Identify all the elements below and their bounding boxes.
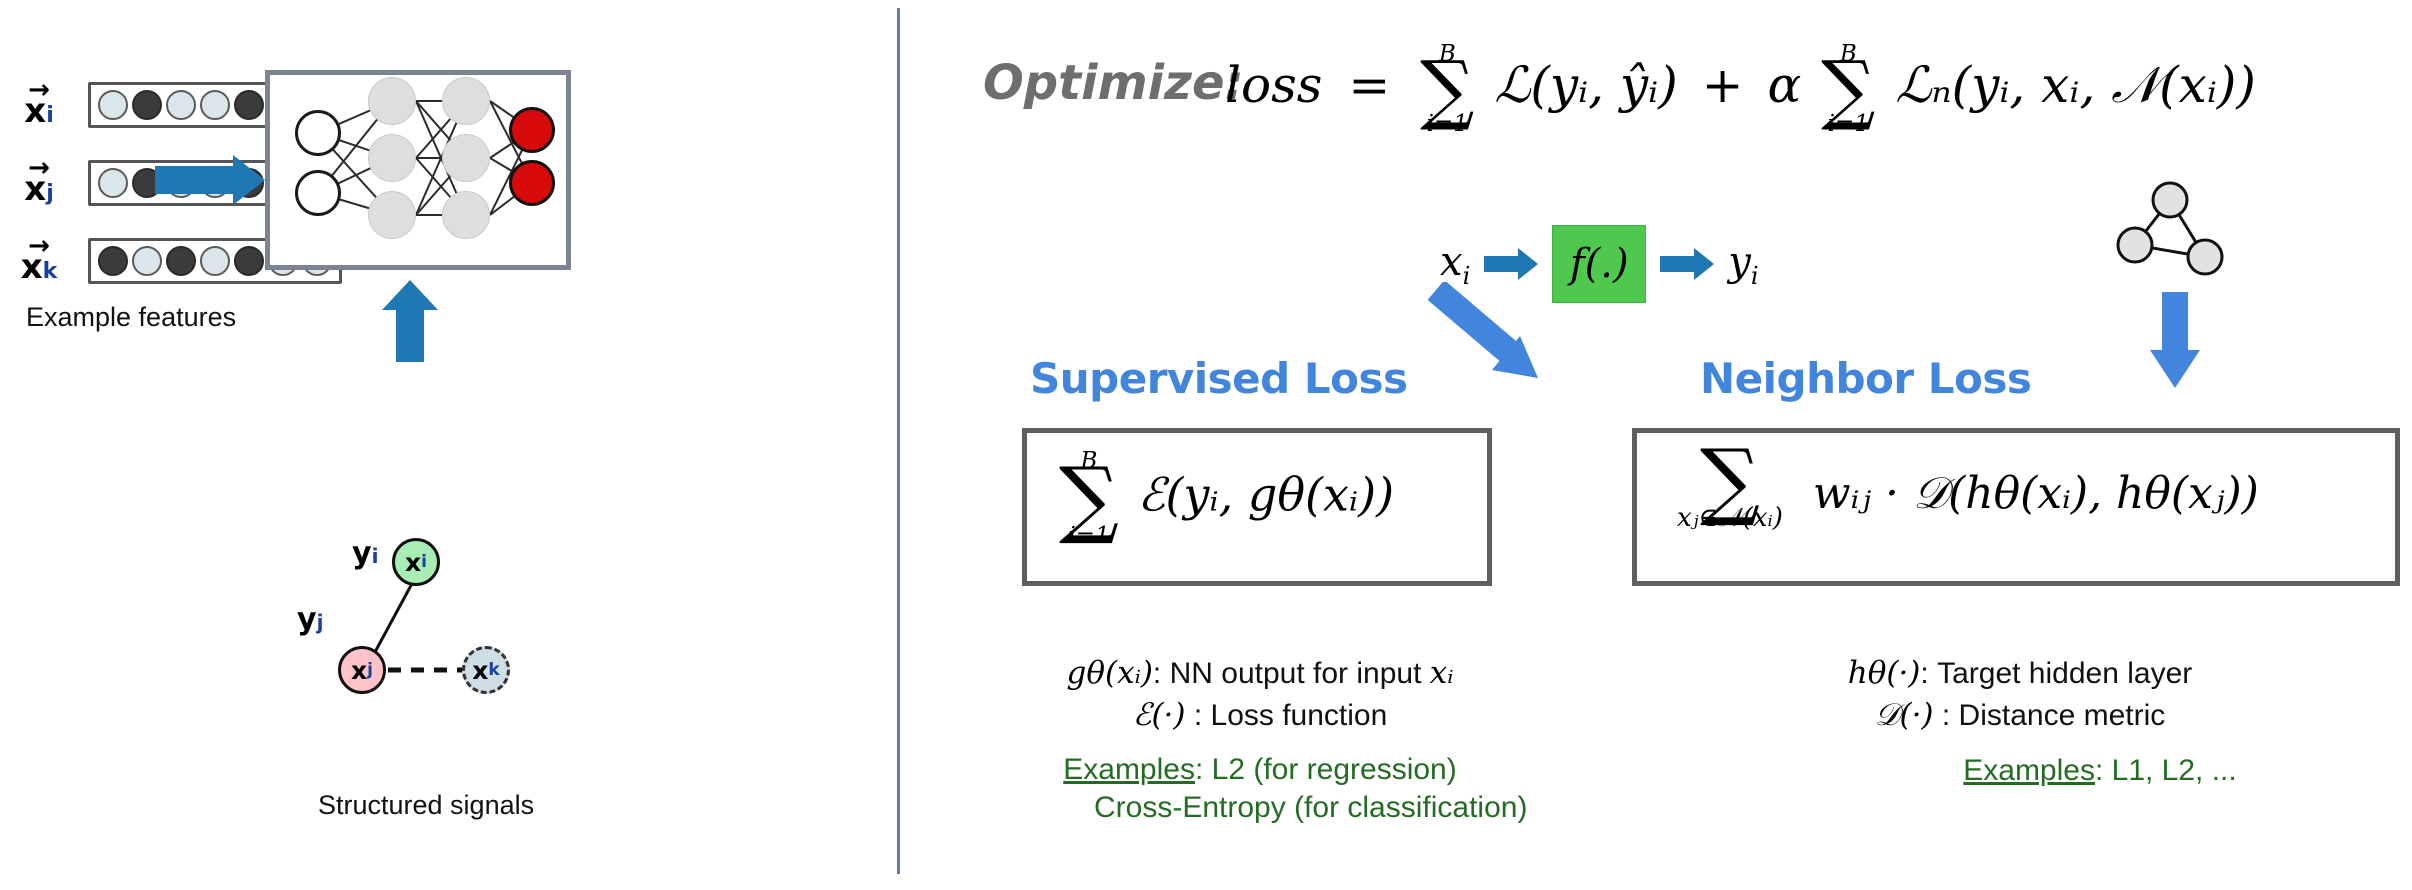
graph-node-xi: xi <box>392 538 440 586</box>
feature-cell <box>200 246 230 276</box>
equation-alpha: α <box>1767 56 1801 114</box>
feature-cell <box>98 246 128 276</box>
graph-node-xj: xj <box>338 646 386 694</box>
arrow-input-to-function <box>1484 248 1538 280</box>
graph-label-base: y <box>297 602 317 637</box>
legend-trail: xᵢ <box>1430 655 1454 691</box>
network-hidden-node <box>368 191 416 239</box>
graph-node-label: x <box>351 656 367 685</box>
arrow-diagonal-svg <box>1428 282 1558 392</box>
legend-symbol: gθ(xᵢ) <box>1067 655 1153 691</box>
legend-row: gθ(xᵢ): NN output for input xᵢ <box>1020 655 1500 691</box>
sum-lower-limit: xⱼ∈𝒩(xᵢ) <box>1677 505 1783 532</box>
graph-label-sub: j <box>317 610 324 634</box>
vector-label-sub: i <box>46 103 54 128</box>
sum-lower-limit: i=1 <box>1828 112 1869 136</box>
feature-cell <box>132 90 162 120</box>
legend-row: ℰ(·) : Loss function <box>1020 697 1500 733</box>
sum-lower-limit: i=1 <box>1427 112 1468 136</box>
sum-symbol: ∑ <box>1420 66 1474 112</box>
feature-cell <box>132 246 162 276</box>
supervised-formula-body: ℰ(yᵢ, gθ(xᵢ)) <box>1138 467 1394 521</box>
graph-label-yj: yj <box>297 602 323 637</box>
structured-signals-caption: Structured signals <box>318 790 534 821</box>
graph-node-label: x <box>472 656 488 685</box>
examples-label: Examples <box>1963 754 2095 787</box>
summation: B ∑ i=1 <box>1059 449 1119 548</box>
panel-divider <box>897 8 900 874</box>
supervised-legend: gθ(xᵢ): NN output for input xᵢ ℰ(·) : Lo… <box>1020 655 1500 825</box>
arrow-down-svg <box>2140 292 2220 392</box>
graph-node-sub: k <box>488 660 499 680</box>
equation-term-neighbor: ℒₙ(yᵢ, xᵢ, 𝒩(xᵢ)) <box>1895 56 2256 114</box>
equation-term-supervised: ℒ(yᵢ, ŷᵢ) <box>1494 56 1677 114</box>
graph-node-xk: xk <box>462 646 510 694</box>
function-box-label: f(.) <box>1570 241 1629 287</box>
legend-sep: : <box>1920 657 1928 690</box>
examples-row: Examples: L2 (for regression) <box>1020 753 1500 787</box>
arrow-function-to-output <box>1660 248 1714 280</box>
neighbor-loss-title: Neighbor Loss <box>1700 354 2031 403</box>
feature-cell <box>200 90 230 120</box>
sum-symbol: ∑ <box>1700 455 1760 505</box>
network-input-node <box>295 110 341 156</box>
vector-label-k: → xk <box>8 238 70 284</box>
feature-cell <box>166 90 196 120</box>
examples-row: Cross-Entropy (for classification) <box>1094 791 1500 825</box>
network-hidden-node <box>442 77 490 125</box>
examples-label: Examples <box>1063 753 1195 786</box>
legend-row: 𝒟(·) : Distance metric <box>1640 697 2400 734</box>
network-output-node <box>509 160 555 206</box>
vector-label-base: x <box>21 247 43 287</box>
legend-sep: : <box>1186 699 1203 732</box>
neighbor-loss-formula: ∑ xⱼ∈𝒩(xᵢ) wᵢⱼ · 𝒟(hθ(xᵢ), hθ(xⱼ)) <box>1673 455 2259 533</box>
legend-text: Target hidden layer <box>1937 657 2192 690</box>
graph-label-yi: yi <box>352 536 378 571</box>
neural-network-box <box>265 70 571 270</box>
legend-text: Distance metric <box>1959 699 2166 732</box>
legend-row: hθ(·): Target hidden layer <box>1640 655 2400 691</box>
examples-line: : L2 (for regression) <box>1195 753 1457 786</box>
structured-signals-graph: xi xj xk yi yj <box>310 510 590 730</box>
graph-label-base: y <box>352 536 372 571</box>
equation-plus: + <box>1702 56 1744 114</box>
graph-node-label: x <box>405 548 421 577</box>
neighbor-legend: hθ(·): Target hidden layer 𝒟(·) : Distan… <box>1640 655 2400 788</box>
arrow-graph-to-network <box>382 280 438 362</box>
equation-equals: = <box>1348 56 1390 114</box>
graph-triangle-icon <box>2115 175 2245 285</box>
legend-text: Loss function <box>1211 699 1388 732</box>
legend-symbol: ℰ(·) <box>1133 697 1186 733</box>
main-equation: loss = B ∑ i=1 ℒ(yᵢ, ŷᵢ) + α B ∑ i=1 ℒₙ(… <box>1225 42 2256 136</box>
arrow-to-supervised-loss <box>1428 282 1558 397</box>
examples-row: Examples: L1, L2, ... <box>1800 754 2400 788</box>
arrow-to-neighbor-loss <box>2140 292 2220 397</box>
network-output-node <box>509 107 555 153</box>
vector-label-base: x <box>24 169 46 209</box>
summation: ∑ xⱼ∈𝒩(xᵢ) <box>1677 455 1783 533</box>
legend-symbol: 𝒟(·) <box>1875 697 1934 733</box>
network-input-node <box>295 170 341 216</box>
network-hidden-node <box>368 134 416 182</box>
supervised-loss-box: B ∑ i=1 ℰ(yᵢ, gθ(xᵢ)) <box>1022 428 1492 586</box>
graph-node-sub: j <box>367 660 373 680</box>
optimize-label: Optimize: <box>983 55 1244 111</box>
examples-line: : L1, L2, ... <box>2095 754 2237 787</box>
equation-lhs: loss <box>1225 56 1322 114</box>
supervised-loss-formula: B ∑ i=1 ℰ(yᵢ, gθ(xᵢ)) <box>1055 449 1394 548</box>
network-hidden-node <box>442 134 490 182</box>
vector-label-i: → xi <box>8 82 70 128</box>
summation-2: B ∑ i=1 <box>1821 42 1875 136</box>
feature-cell <box>234 246 264 276</box>
neighbor-formula-body: wᵢⱼ · 𝒟(hθ(xᵢ), hθ(xⱼ)) <box>1813 468 2259 519</box>
legend-sep: : <box>1934 699 1951 732</box>
vector-label-j: → xj <box>8 160 70 206</box>
graph-node-sub: i <box>421 552 427 572</box>
vector-label-sub: k <box>43 259 58 284</box>
sum-symbol: ∑ <box>1059 473 1119 523</box>
feature-cell <box>98 168 128 198</box>
vector-label-sub: j <box>46 181 54 206</box>
feature-cell <box>166 246 196 276</box>
network-hidden-node <box>368 77 416 125</box>
legend-text: NN output for input <box>1170 657 1430 690</box>
graph-label-sub: i <box>372 544 379 568</box>
feature-cell <box>98 90 128 120</box>
function-box: f(.) <box>1552 225 1646 303</box>
supervised-loss-title: Supervised Loss <box>1030 354 1407 403</box>
sum-lower-limit: i=1 <box>1068 524 1109 548</box>
feature-cell <box>234 90 264 120</box>
vector-label-base: x <box>24 91 46 131</box>
flow-output-label: yi <box>1728 239 1758 290</box>
example-features-caption: Example features <box>26 302 236 333</box>
network-hidden-node <box>442 191 490 239</box>
graph-triangle-svg <box>2115 175 2245 285</box>
legend-symbol: hθ(·) <box>1848 655 1921 691</box>
legend-sep: : <box>1153 657 1161 690</box>
examples-line: Cross-Entropy (for classification) <box>1094 791 1527 824</box>
summation-1: B ∑ i=1 <box>1420 42 1474 136</box>
arrow-features-to-network <box>155 155 265 205</box>
neighbor-loss-box: ∑ xⱼ∈𝒩(xᵢ) wᵢⱼ · 𝒟(hθ(xᵢ), hθ(xⱼ)) <box>1632 428 2400 586</box>
sum-symbol: ∑ <box>1821 66 1875 112</box>
